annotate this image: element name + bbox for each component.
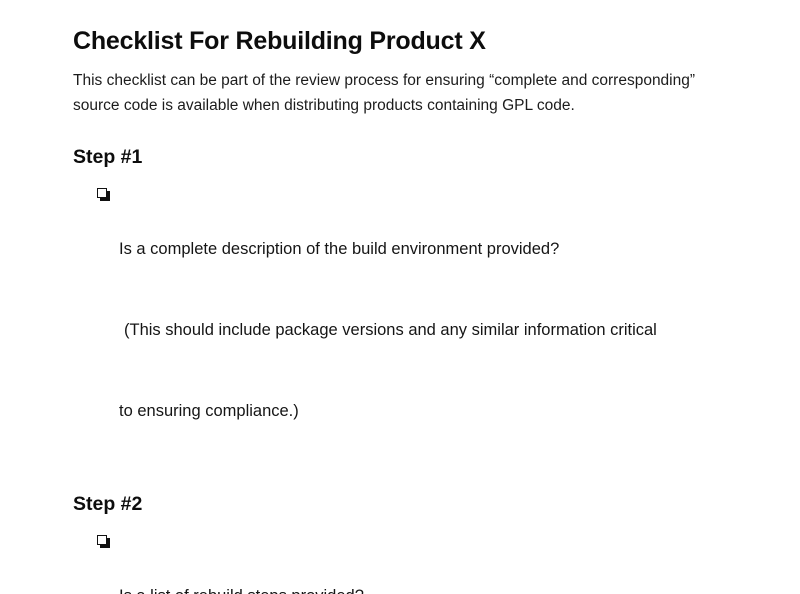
checklist-item[interactable]: Is a list of rebuild steps provided? bbox=[73, 529, 745, 594]
checklist-item-line-1: Is a complete description of the build e… bbox=[119, 236, 657, 263]
page-title: Checklist For Rebuilding Product X bbox=[73, 26, 745, 56]
step-heading-2: Step #2 bbox=[73, 479, 745, 516]
checkbox-box bbox=[97, 188, 107, 198]
step-section-2: Step #2 Is a list of rebuild steps provi… bbox=[73, 479, 745, 594]
checkbox-icon[interactable] bbox=[97, 535, 110, 548]
checklist-item-line-2: (This should include package versions an… bbox=[119, 317, 657, 344]
slide-content: Checklist For Rebuilding Product X This … bbox=[73, 26, 745, 594]
step-item-list-1: Is a complete description of the build e… bbox=[73, 182, 745, 479]
page-subtitle: This checklist can be part of the review… bbox=[73, 68, 725, 118]
step-heading-1: Step #1 bbox=[73, 132, 745, 169]
step-item-list-2: Is a list of rebuild steps provided? bbox=[73, 529, 745, 594]
checklist-item-line-3: to ensuring compliance.) bbox=[119, 398, 657, 425]
slide-canvas: Checklist For Rebuilding Product X This … bbox=[0, 0, 800, 594]
checklist-item[interactable]: Is a complete description of the build e… bbox=[73, 182, 745, 479]
checklist-item-text: Is a list of rebuild steps provided? bbox=[119, 529, 364, 594]
checkbox-box bbox=[97, 535, 107, 545]
checkbox-icon[interactable] bbox=[97, 188, 110, 201]
checklist-item-line-1: Is a list of rebuild steps provided? bbox=[119, 583, 364, 594]
step-section-1: Step #1 Is a complete description of the… bbox=[73, 132, 745, 479]
checklist-item-text: Is a complete description of the build e… bbox=[119, 182, 657, 479]
